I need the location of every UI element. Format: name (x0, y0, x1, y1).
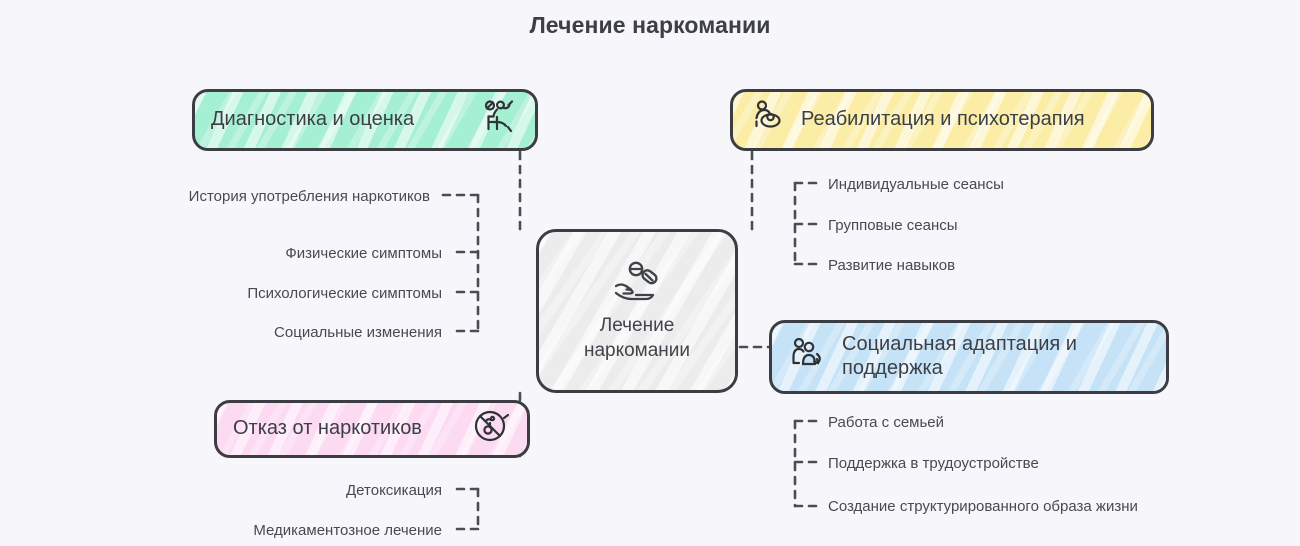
person-assessment-icon (477, 96, 519, 144)
branch-node-rehab[interactable]: Реабилитация и психотерапия (730, 89, 1154, 151)
leaf-item: Работа с семьей (828, 413, 944, 433)
leaf-item: Поддержка в трудоустройстве (828, 454, 1039, 474)
leaf-item: Социальные изменения (134, 323, 442, 343)
branch-node-social[interactable]: Социальная адаптация и поддержка (769, 320, 1169, 394)
mindmap-canvas: Лечение наркомании Диагностика и оценка (0, 0, 1300, 546)
people-support-icon (788, 333, 830, 381)
central-node[interactable]: Лечение наркомании (536, 229, 738, 393)
leaf-item: Детоксикация (134, 481, 442, 501)
leaf-item: Создание структурированного образа жизни (828, 497, 1138, 517)
leaf-item: Физические симптомы (134, 244, 442, 264)
hand-holding-pills-icon (608, 259, 666, 310)
branch-label-refusal: Отказ от наркотиков (233, 417, 459, 441)
leaf-item: Индивидуальные сеансы (828, 175, 1004, 195)
leaf-item: История употребления наркотиков (134, 187, 430, 207)
no-drugs-icon (471, 406, 511, 452)
branch-label-social: Социальная адаптация и поддержка (842, 333, 1150, 380)
leaf-item: Медикаментозное лечение (134, 521, 442, 541)
page-title: Лечение наркомании (0, 12, 1300, 39)
central-node-label: Лечение наркомании (584, 314, 690, 363)
branch-node-diagnostics[interactable]: Диагностика и оценка (192, 89, 538, 151)
branch-label-rehab: Реабилитация и психотерапия (801, 108, 1085, 132)
branch-label-diagnostics: Диагностика и оценка (211, 108, 465, 132)
leaf-item: Психологические симптомы (134, 284, 442, 304)
leaf-item: Групповые сеансы (828, 216, 958, 236)
branch-node-refusal[interactable]: Отказ от наркотиков (214, 400, 530, 458)
leaf-item: Развитие навыков (828, 256, 955, 276)
therapy-session-icon (749, 97, 789, 143)
